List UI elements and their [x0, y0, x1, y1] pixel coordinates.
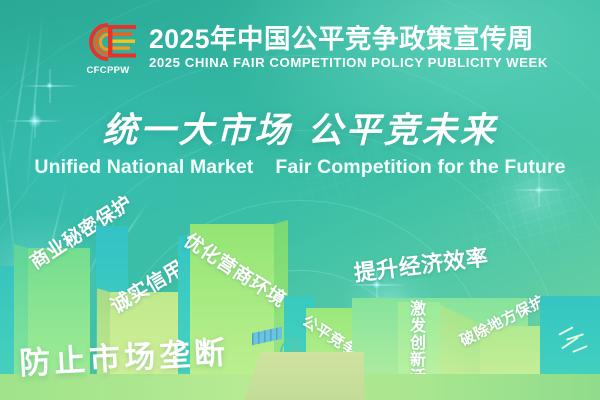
logo-block: CFCPPW	[78, 22, 138, 74]
lens-flare	[46, 82, 53, 89]
logo-wordmark: CFCPPW	[78, 65, 138, 76]
slogan-english-left: Unified National Market	[34, 156, 253, 178]
title-english: 2025 CHINA FAIR COMPETITION POLICY PUBLI…	[149, 56, 548, 70]
slogan-english: Unified National MarketFair Competition …	[0, 156, 600, 179]
foreground-plinth	[244, 352, 364, 400]
header-titles: 2025年中国公平竞争政策宣传周 2025 CHINA FAIR COMPETI…	[149, 26, 548, 70]
poster-header: CFCPPW 2025年中国公平竞争政策宣传周 2025 CHINA FAIR …	[78, 22, 548, 74]
cfcppw-logo-icon	[78, 22, 138, 62]
poster-canvas: CFCPPW 2025年中国公平竞争政策宣传周 2025 CHINA FAIR …	[0, 0, 600, 400]
title-chinese: 2025年中国公平竞争政策宣传周	[149, 26, 548, 54]
building-label-improve-economic-efficiency: 提升经济效率	[352, 240, 490, 288]
tree-sprig	[556, 326, 596, 360]
slogan-chinese: 统一大市场 公平竞未来	[0, 102, 600, 153]
slogan-english-right: Fair Competition for the Future	[275, 156, 565, 178]
city-skyline: 商业秘密保护 诚实信用 优化营商环境 公平竞争审查	[0, 200, 600, 400]
solar-panel-icon	[252, 327, 282, 345]
lens-flare	[535, 186, 543, 194]
